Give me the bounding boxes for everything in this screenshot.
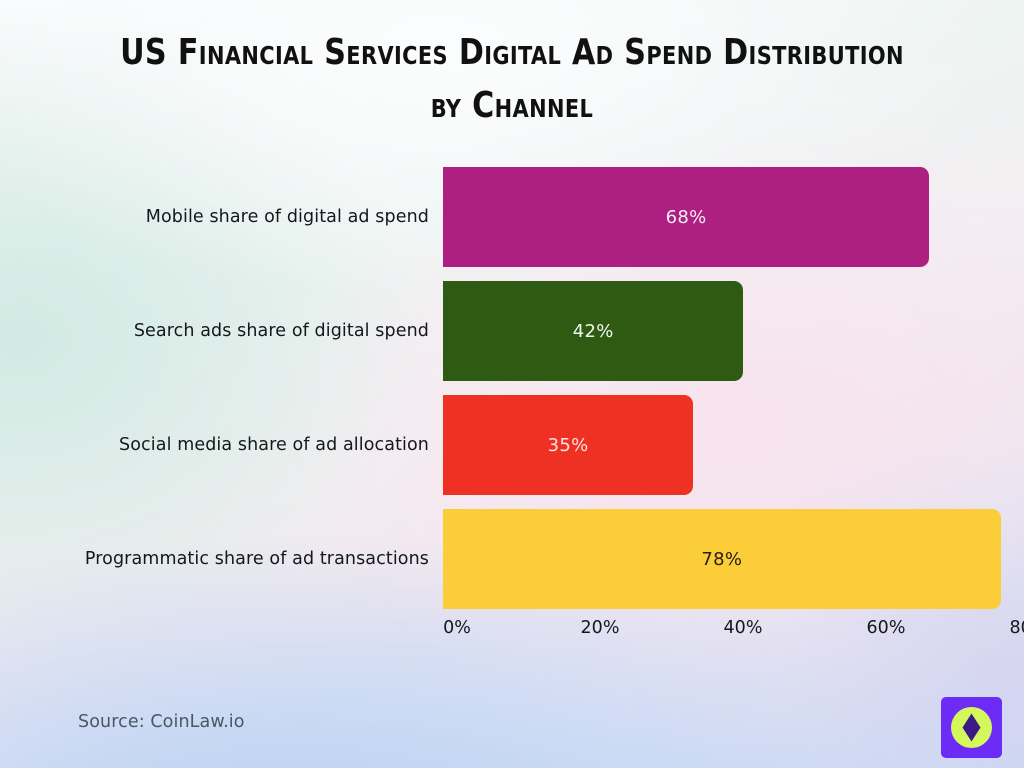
bar-value-label: 68% [666, 207, 707, 228]
source-note: Source: CoinLaw.io [78, 712, 245, 732]
bar-value-label: 78% [701, 549, 742, 570]
bar-category-label: Mobile share of digital ad spend [0, 207, 443, 227]
bar-value-label: 35% [548, 435, 589, 456]
x-axis: 0%20%40%60%80% [457, 618, 1024, 648]
bar-track: 68% [443, 160, 1024, 274]
compass-icon [941, 697, 1002, 758]
bar-row: Social media share of ad allocation35% [0, 388, 1024, 502]
bar[interactable]: 35% [443, 395, 693, 495]
x-axis-tick-label: 20% [581, 618, 620, 638]
bar-row: Programmatic share of ad transactions78% [0, 502, 1024, 616]
bar[interactable]: 42% [443, 281, 743, 381]
bar[interactable]: 68% [443, 167, 929, 267]
bar-row: Search ads share of digital spend42% [0, 274, 1024, 388]
bar-category-label: Social media share of ad allocation [0, 435, 443, 455]
x-axis-tick-label: 40% [724, 618, 763, 638]
bar-category-label: Programmatic share of ad transactions [0, 549, 443, 569]
chart-title: US Financial Services Digital Ad Spend D… [94, 26, 931, 133]
bar-track: 35% [443, 388, 1024, 502]
bar-category-label: Search ads share of digital spend [0, 321, 443, 341]
bar-track: 42% [443, 274, 1024, 388]
x-axis-tick-label: 60% [867, 618, 906, 638]
chart-poster: US Financial Services Digital Ad Spend D… [0, 0, 1024, 768]
bar-row: Mobile share of digital ad spend68% [0, 160, 1024, 274]
coinlaw-logo[interactable] [941, 697, 1002, 758]
x-axis-tick-label: 0% [443, 618, 471, 638]
bar[interactable]: 78% [443, 509, 1001, 609]
bar-value-label: 42% [573, 321, 614, 342]
x-axis-tick-label: 80% [1010, 618, 1024, 638]
bar-rows: Mobile share of digital ad spend68%Searc… [0, 160, 1024, 616]
bar-chart-plot-area: Mobile share of digital ad spend68%Searc… [0, 160, 1024, 660]
bar-track: 78% [443, 502, 1024, 616]
title-block: US Financial Services Digital Ad Spend D… [62, 26, 962, 133]
